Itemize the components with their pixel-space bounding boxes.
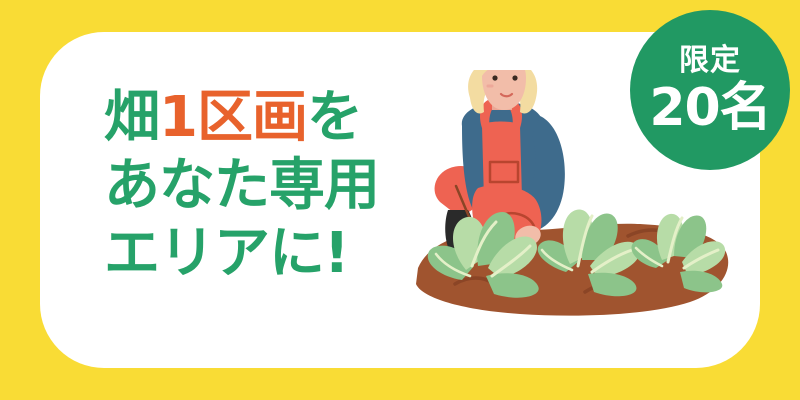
headline-line-2-pre: あなた専用 <box>104 153 379 218</box>
badge-bottom-label: 20名 <box>649 80 770 136</box>
headline-line-1-accent: 1区画 <box>159 85 307 150</box>
headline-line-1-pre: 畑 <box>104 85 159 150</box>
badge-top-label: 限定 <box>679 44 741 78</box>
eye-right-icon <box>512 75 517 80</box>
headline-line-3: エリアに! <box>104 220 404 288</box>
limited-quantity-badge: 限定 20名 <box>630 10 790 170</box>
headline-line-3-pre: エリアに! <box>104 221 349 286</box>
headline-line-1-post: を <box>307 85 362 150</box>
eye-left-icon <box>492 75 497 80</box>
headline-block: 畑1区画を あなた専用 エリアに! <box>104 84 404 288</box>
promo-banner: 畑1区画を あなた専用 エリアに! <box>0 0 800 400</box>
headline-line-1: 畑1区画を <box>104 84 404 152</box>
headline-line-2: あなた専用 <box>104 152 404 220</box>
